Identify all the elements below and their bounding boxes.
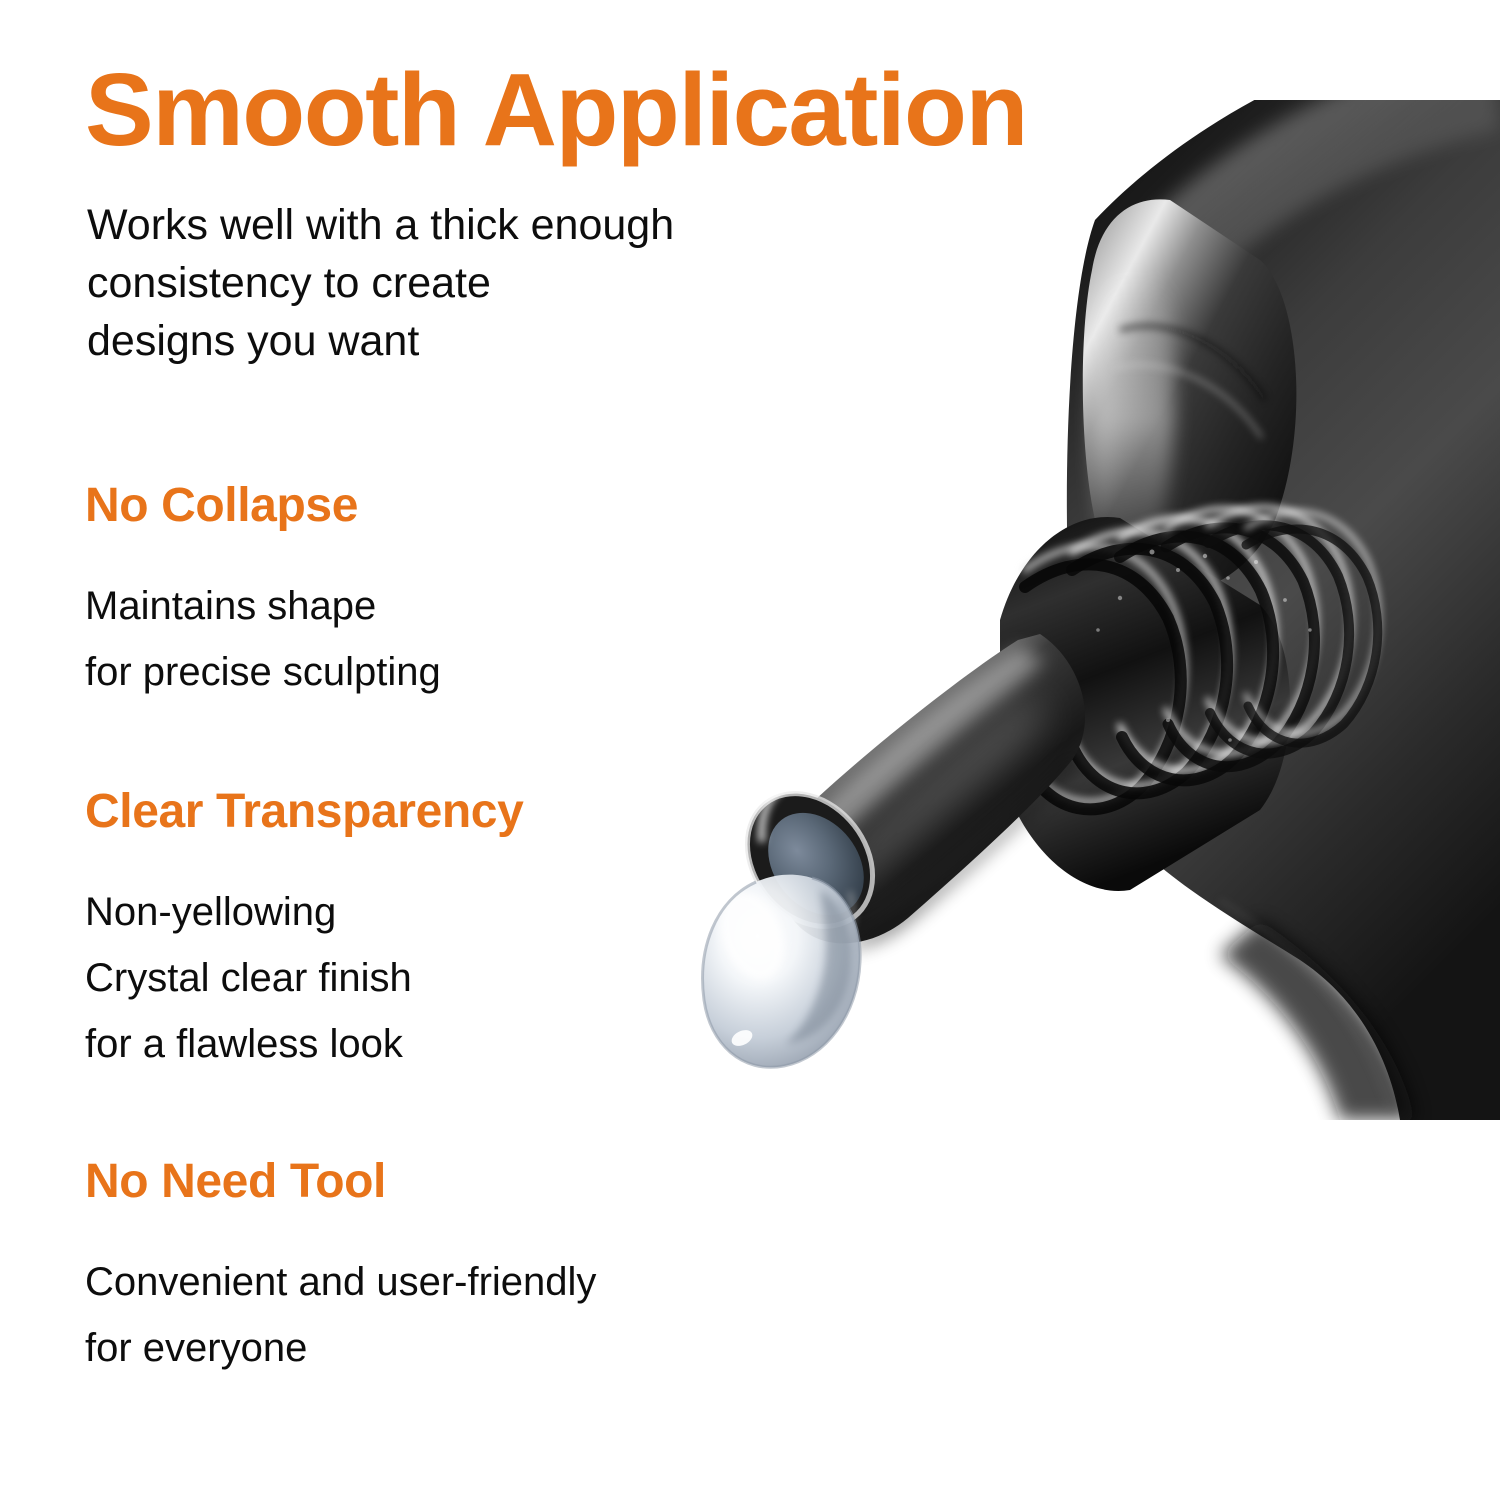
feature-body: Non-yellowing Crystal clear finish for a… bbox=[85, 879, 865, 1077]
feature-body-line: Maintains shape bbox=[85, 573, 865, 639]
feature-body: Convenient and user-friendly for everyon… bbox=[85, 1249, 865, 1381]
feature-body-line: Convenient and user-friendly bbox=[85, 1249, 865, 1315]
subtitle-line: consistency to create bbox=[87, 254, 674, 312]
feature-heading: Clear Transparency bbox=[85, 786, 865, 839]
subtitle-line: designs you want bbox=[87, 312, 674, 370]
feature-body-line: for everyone bbox=[85, 1315, 865, 1381]
feature-body: Maintains shape for precise sculpting bbox=[85, 573, 865, 705]
feature-body-line: Crystal clear finish bbox=[85, 945, 865, 1011]
feature-block-clear-transparency: Clear Transparency Non-yellowing Crystal… bbox=[85, 786, 865, 1077]
text-column: Smooth Application Works well with a thi… bbox=[85, 0, 865, 1500]
feature-heading: No Need Tool bbox=[85, 1156, 865, 1209]
feature-body-line: for precise sculpting bbox=[85, 639, 865, 705]
feature-heading: No Collapse bbox=[85, 480, 865, 533]
infographic-page: Smooth Application Works well with a thi… bbox=[0, 0, 1500, 1500]
page-title: Smooth Application bbox=[85, 56, 1027, 164]
page-subtitle: Works well with a thick enough consisten… bbox=[87, 196, 674, 370]
feature-body-line: Non-yellowing bbox=[85, 879, 865, 945]
feature-block-no-need-tool: No Need Tool Convenient and user-friendl… bbox=[85, 1156, 865, 1381]
subtitle-line: Works well with a thick enough bbox=[87, 196, 674, 254]
feature-block-no-collapse: No Collapse Maintains shape for precise … bbox=[85, 480, 865, 705]
feature-body-line: for a flawless look bbox=[85, 1011, 865, 1077]
